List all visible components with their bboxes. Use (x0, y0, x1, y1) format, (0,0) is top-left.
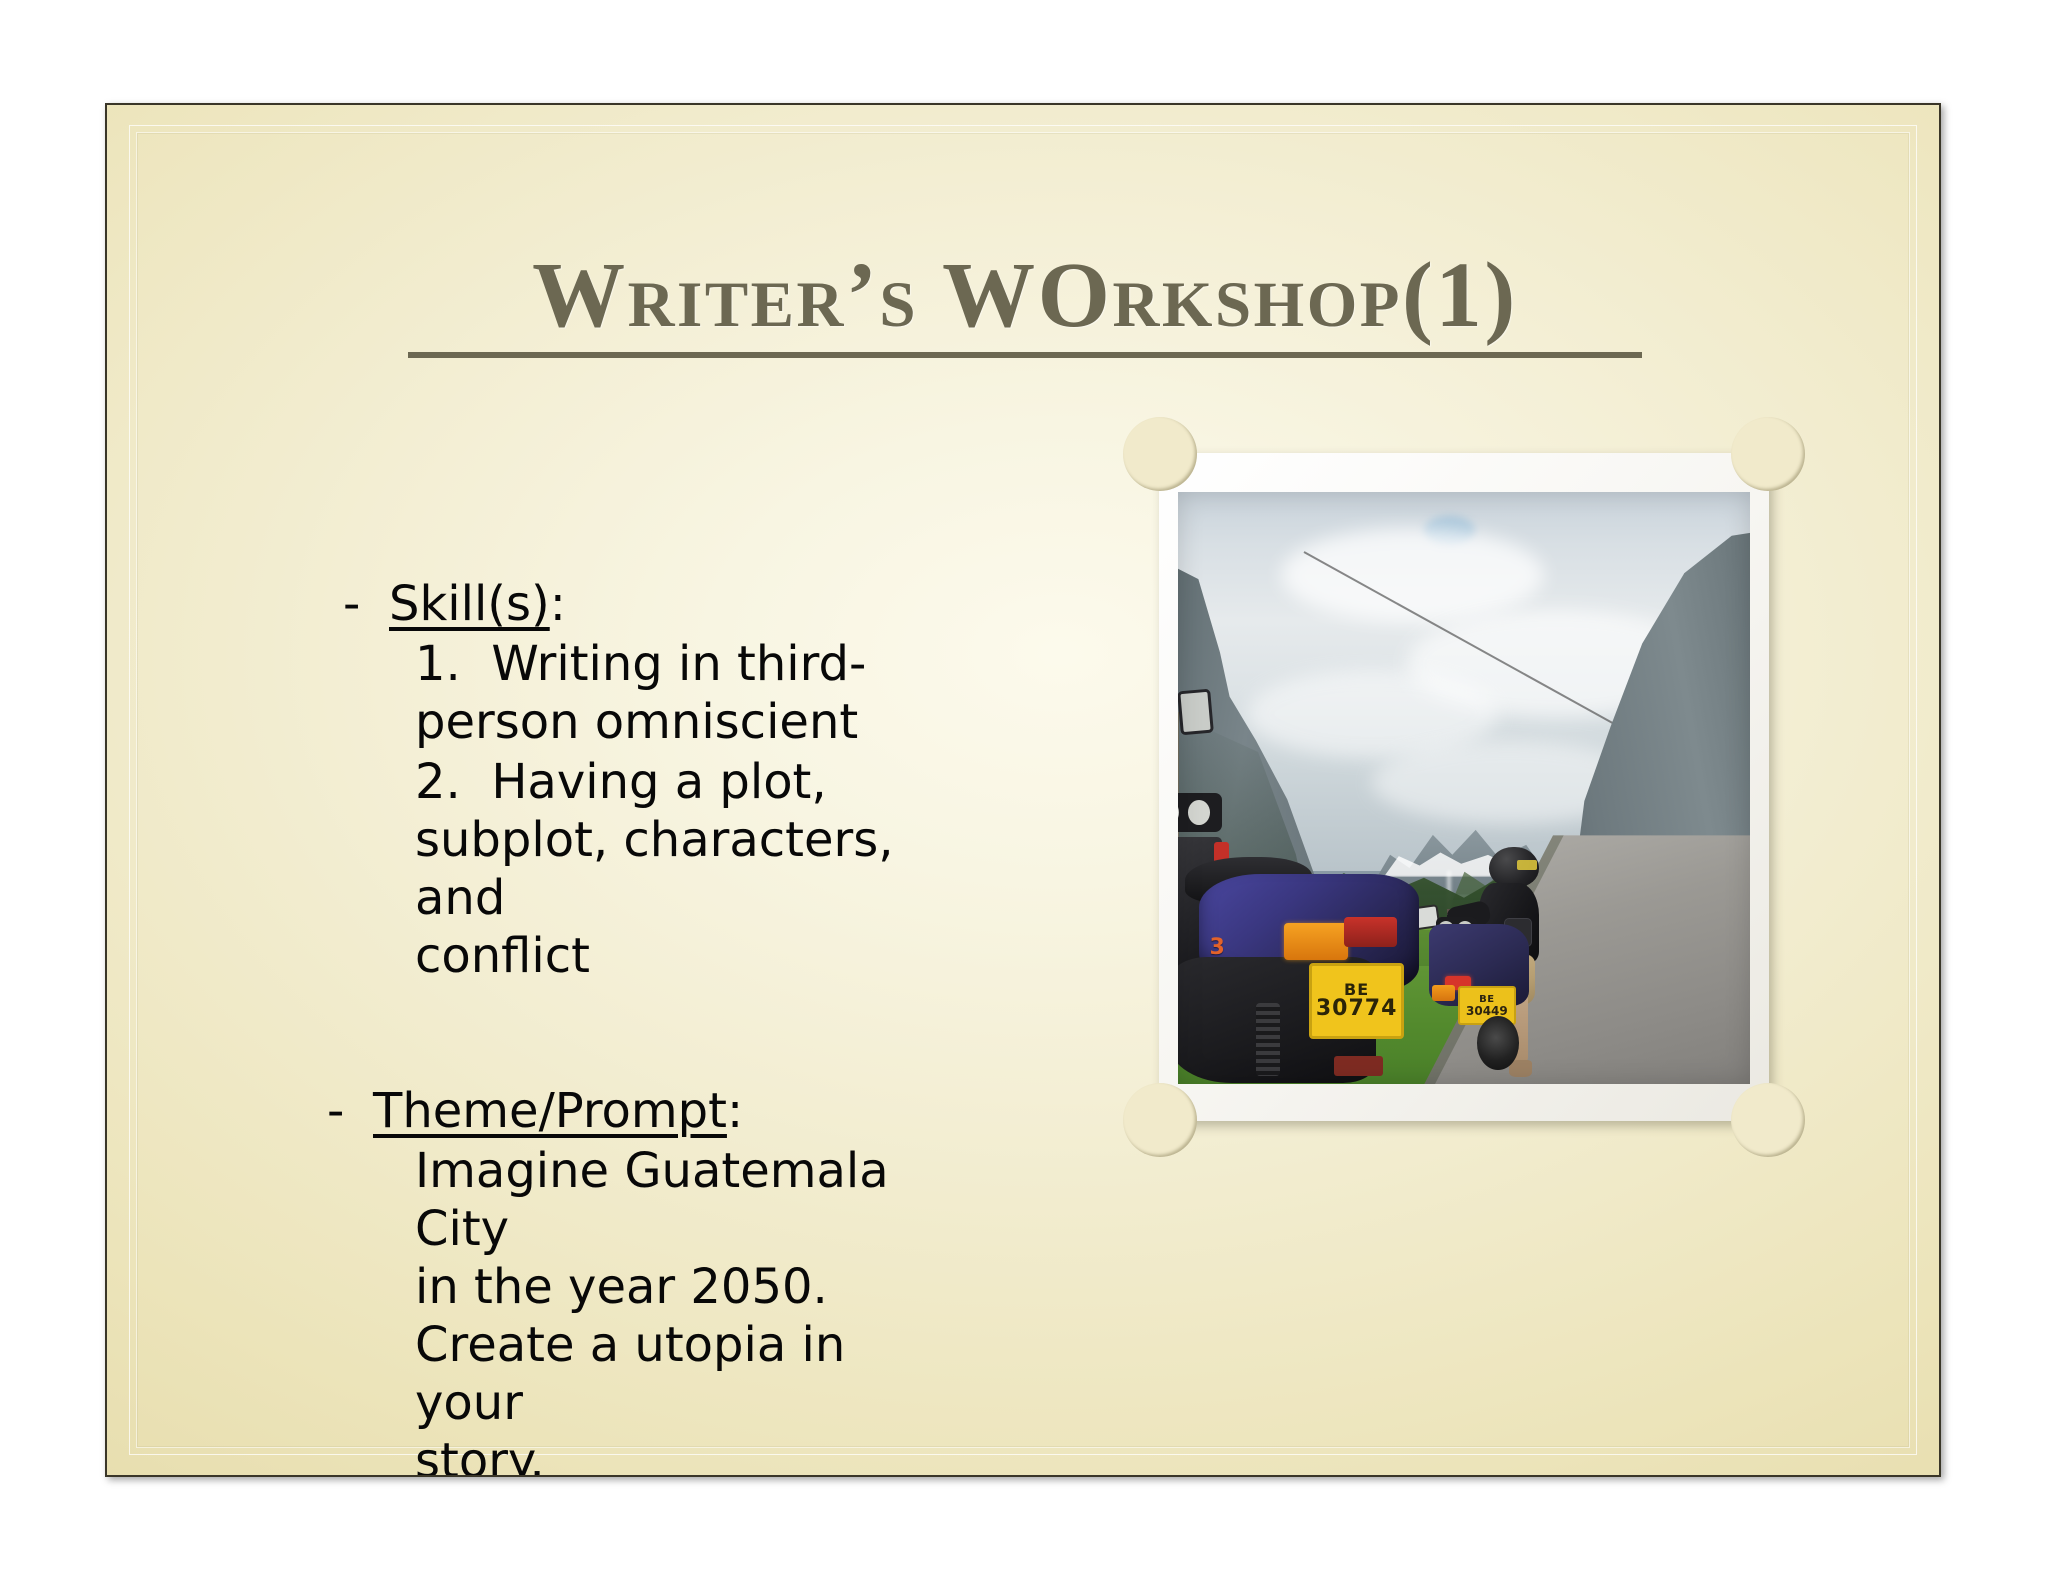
theme-line-4: story. (415, 1432, 935, 1477)
scooter-rear-wheel (1477, 1016, 1519, 1069)
frame-corner-notch-bottom-right (1731, 1083, 1805, 1157)
bullet-theme: -Theme/Prompt: Imagine Guatemala City in… (343, 1082, 1173, 1477)
theme-heading: Theme/Prompt (373, 1083, 727, 1139)
theme-prompt-text: Imagine Guatemala City in the year 2050.… (415, 1142, 935, 1477)
license-plate-front: BE 30774 (1309, 963, 1405, 1039)
slide-title-block: Writer’s WOrkshop(1) (193, 247, 1857, 358)
section-spacer (343, 986, 1173, 1076)
license-plate-front-number: 30774 (1316, 998, 1398, 1020)
skills-item-1-number: 1. (415, 636, 461, 692)
theme-line-3: Create a utopia in your (415, 1316, 935, 1432)
theme-line-2: in the year 2050. (415, 1258, 935, 1316)
skills-item-2-line1: Having a plot, (491, 754, 826, 810)
photo-cloud (1281, 528, 1544, 623)
presentation-slide: Writer’s WOrkshop(1) -Skill(s): 1. Writi… (105, 103, 1941, 1477)
theme-heading-colon: : (727, 1083, 743, 1139)
skills-heading: Skill(s) (389, 576, 550, 632)
skills-item-2-line2: subplot, characters, and (415, 811, 935, 927)
theme-line-1: Imagine Guatemala City (415, 1142, 935, 1258)
skills-item-2-line3: conflict (415, 927, 935, 985)
skills-item-1-line2: person omniscient (415, 693, 935, 751)
screenshot-canvas: Writer’s WOrkshop(1) -Skill(s): 1. Writi… (0, 0, 2048, 1582)
scooter-front-tail-light (1344, 917, 1397, 947)
alpine-valley-photo: BE 30449 0 8 (1178, 492, 1750, 1084)
skills-item-1-line1: Writing in third- (491, 636, 866, 692)
bullet-skills: -Skill(s): (343, 575, 1173, 633)
frame-corner-notch-top-right (1731, 417, 1805, 491)
scooter-front-turn-signal (1284, 923, 1348, 959)
bullet-dash-skills: - (343, 575, 389, 633)
scooter-reflector (1334, 1056, 1384, 1076)
scooter-suspension-spring (1256, 1003, 1281, 1076)
photo-scooter-foreground: 3 BE 30774 (1178, 764, 1475, 1084)
skills-item-2: 2. Having a plot, subplot, characters, a… (415, 753, 935, 985)
title-underline-rule (408, 352, 1642, 358)
slide-image-frame: BE 30449 0 8 (1159, 453, 1769, 1121)
theme-heading-row: -Theme/Prompt: (327, 1082, 1173, 1140)
frame-corner-notch-bottom-left (1123, 1083, 1197, 1157)
skills-heading-colon: : (550, 576, 566, 632)
scooter-left-mirror (1178, 689, 1213, 735)
skills-item-1: 1. Writing in third- person omniscient (415, 635, 935, 751)
frame-corner-notch-top-left (1123, 417, 1197, 491)
bullet-dash-theme: - (327, 1082, 373, 1140)
slide-body-content: -Skill(s): 1. Writing in third- person o… (343, 575, 1173, 1477)
skills-item-2-number: 2. (415, 754, 461, 810)
helmet-decal (1517, 860, 1537, 869)
page-title: Writer’s WOrkshop(1) (193, 247, 1857, 345)
